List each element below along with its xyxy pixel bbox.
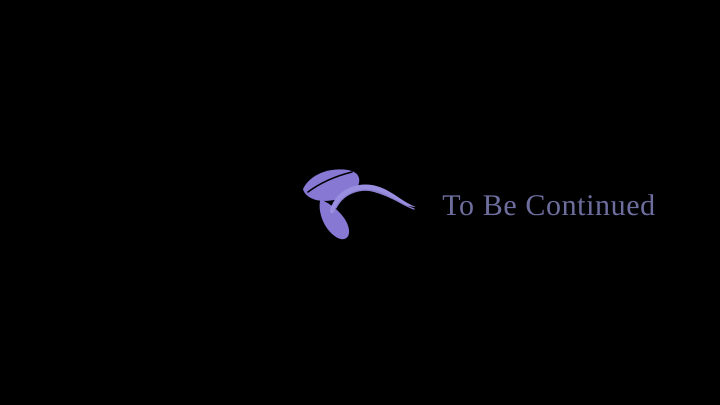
- end-card-content: To Be Continued: [300, 159, 656, 249]
- logo-upper-leaf: [303, 169, 359, 201]
- to-be-continued-text: To Be Continued: [442, 191, 656, 221]
- end-card-container: To Be Continued: [0, 0, 720, 405]
- video-end-card-screen: To Be Continued: [0, 0, 720, 405]
- leaf-vine-logo-icon: [300, 159, 430, 249]
